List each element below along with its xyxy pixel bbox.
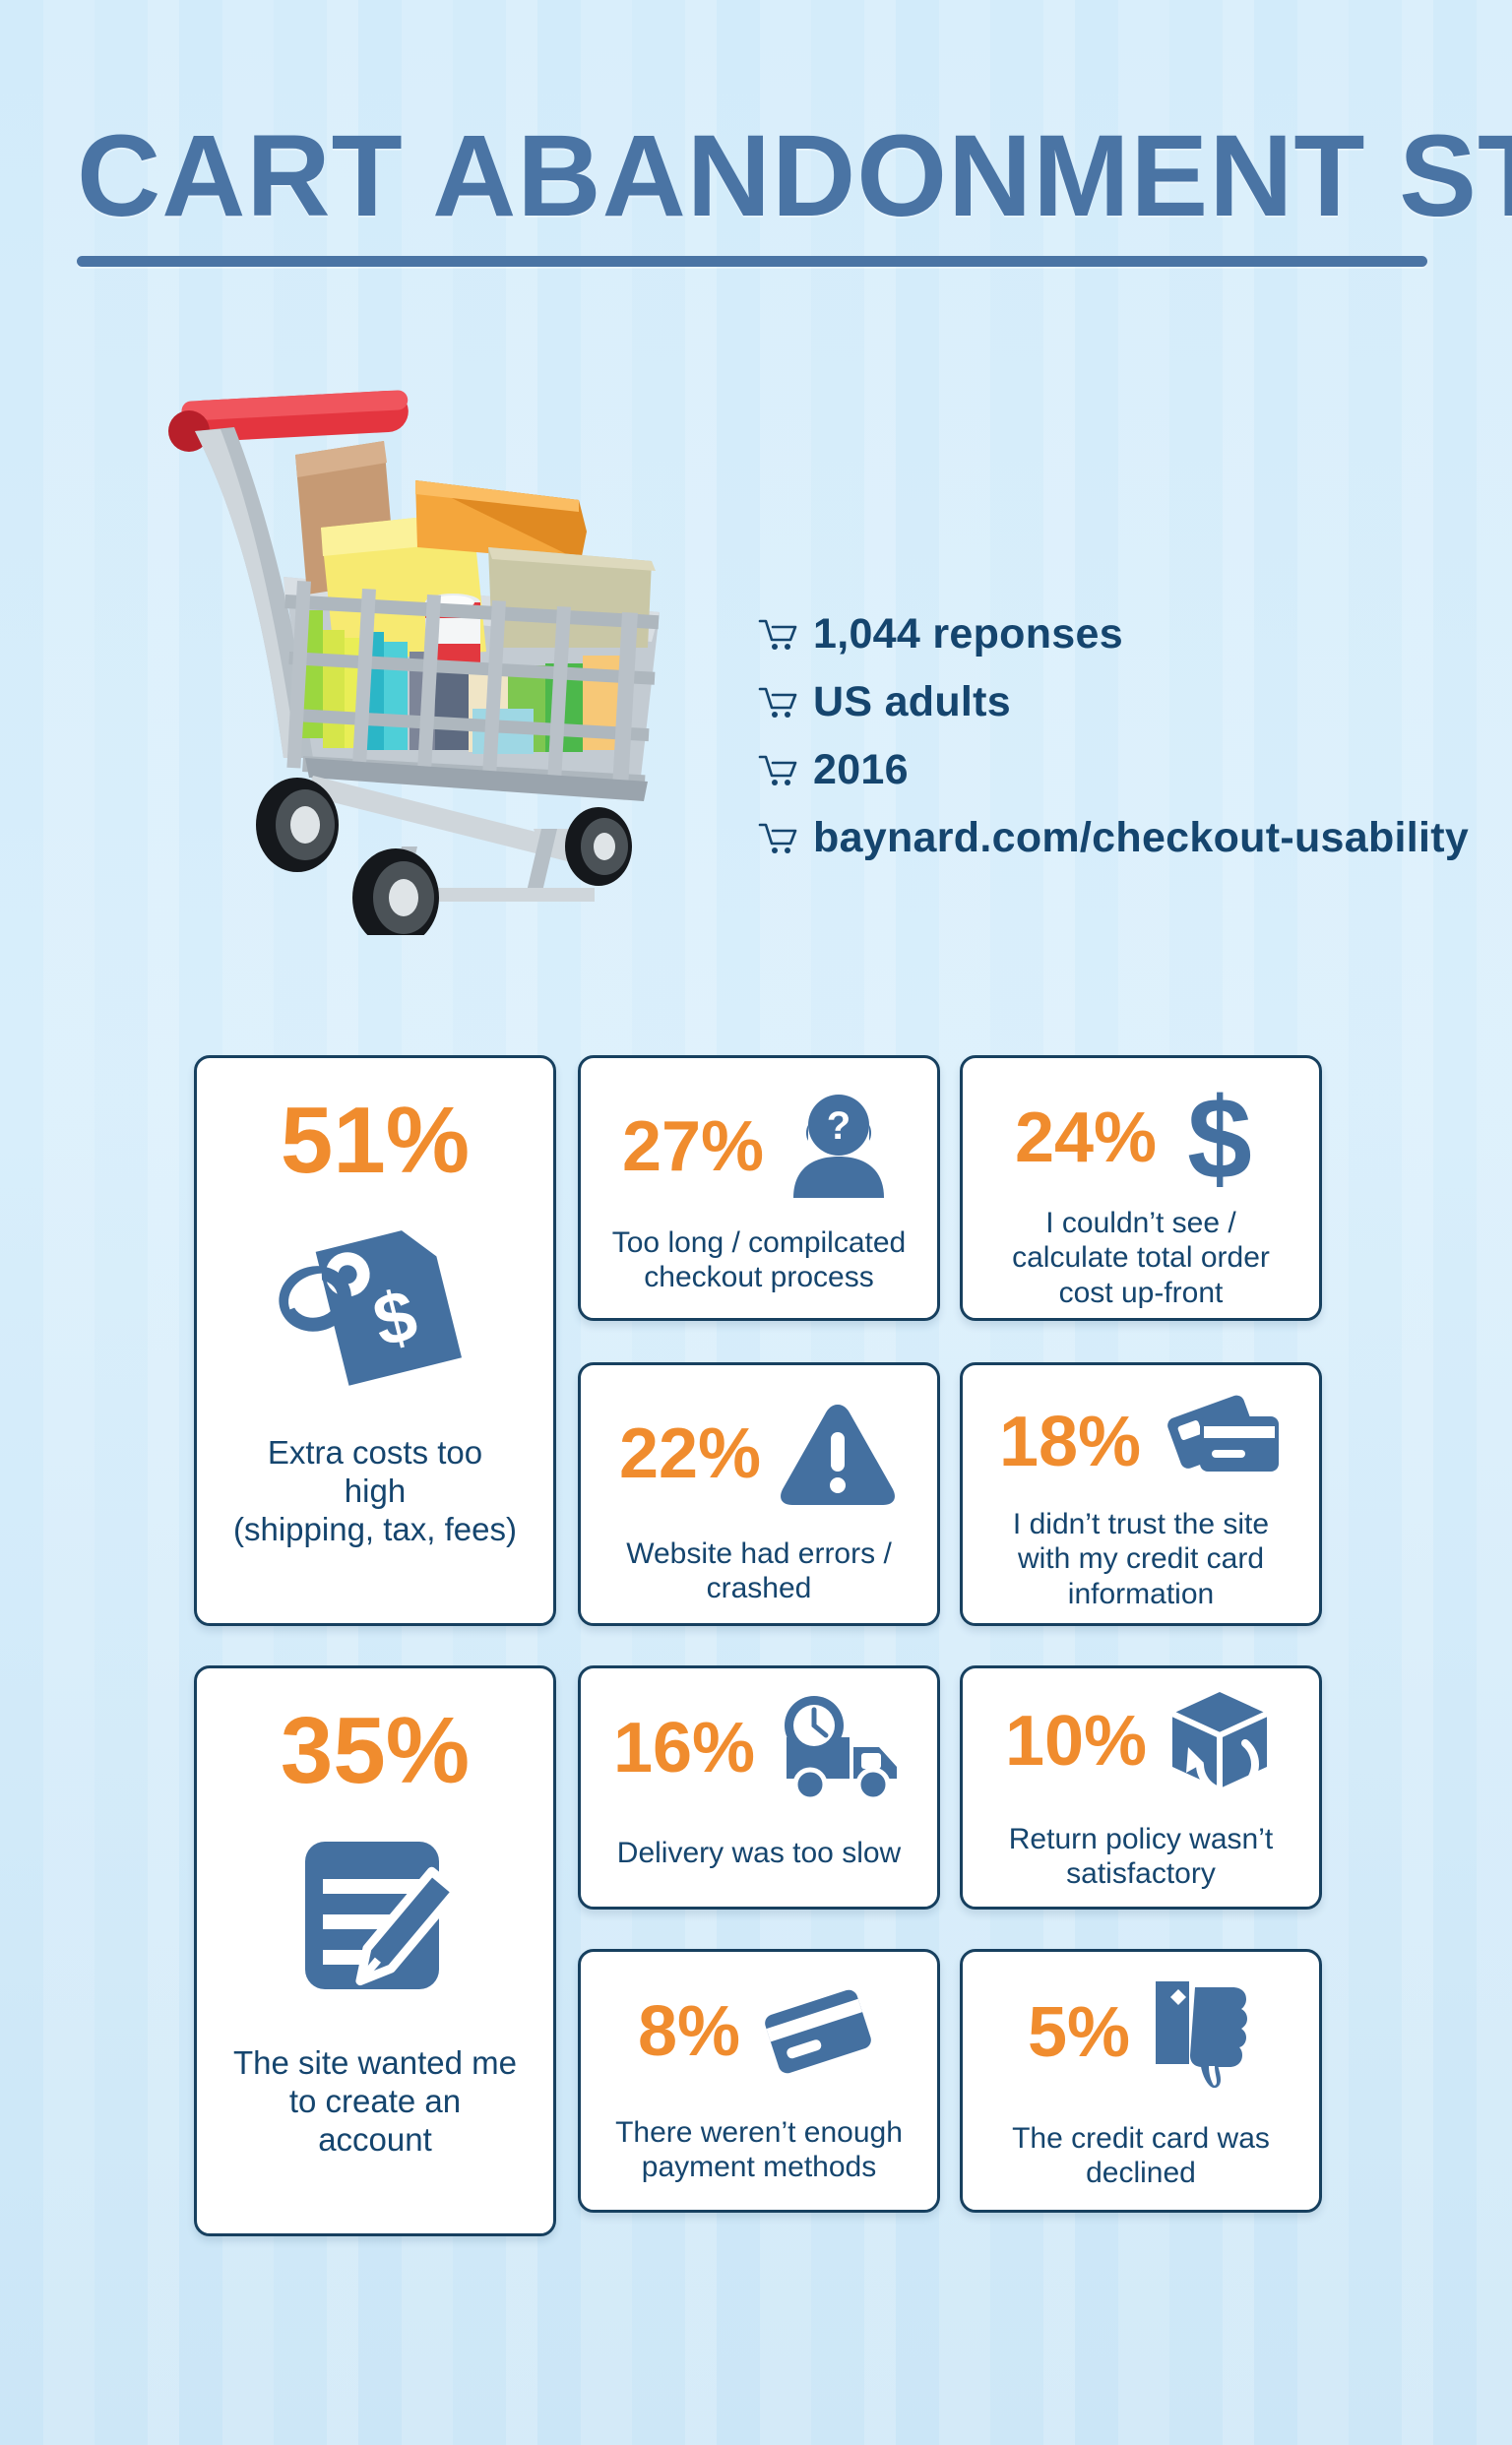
- stat-percent: 51%: [197, 1094, 553, 1188]
- fact-text: 2016: [813, 746, 909, 794]
- return-box-arrow-icon: [1163, 1686, 1277, 1796]
- stat-caption: Extra costs too high (shipping, tax, fee…: [197, 1434, 553, 1549]
- list-item: baynard.com/checkout-usability: [758, 814, 1469, 862]
- stat-percent: 5%: [1028, 1997, 1130, 2068]
- stat-percent: 24%: [1015, 1102, 1157, 1173]
- cart-bullet-icon: [758, 616, 797, 654]
- signup-form-pen-icon: [282, 1828, 469, 2005]
- source-url[interactable]: baynard.com/checkout-usability: [813, 814, 1469, 862]
- thumbs-down-card-icon: [1146, 1972, 1254, 2094]
- title-underline: [77, 256, 1427, 267]
- stat-card-51[interactable]: 51% $ Extra costs too high (shipping, ta: [194, 1055, 556, 1626]
- stat-caption: I didn’t trust the site with my credit c…: [963, 1507, 1319, 1611]
- cart-bullet-icon: [758, 820, 797, 857]
- stat-caption: I couldn’t see / calculate total order c…: [963, 1206, 1319, 1310]
- stat-percent: 8%: [638, 1996, 740, 2067]
- stat-caption: Delivery was too slow: [581, 1836, 937, 1870]
- list-item: 2016: [758, 746, 1469, 794]
- stat-caption: There weren’t enough payment methods: [581, 2115, 937, 2185]
- price-tag-dollar-icon: $: [272, 1214, 478, 1401]
- stat-caption: Website had errors / crashed: [581, 1536, 937, 1606]
- credit-cards-icon: [1157, 1391, 1283, 1493]
- credit-card-icon: [756, 1977, 880, 2086]
- page-title: CART ABANDONMENT STATS: [77, 118, 1435, 234]
- stat-card-16[interactable]: 16% Delivery was too slow: [578, 1665, 940, 1910]
- page-header: CART ABANDONMENT STATS: [77, 118, 1435, 267]
- stat-card-8[interactable]: 8% There weren’t enough payment methods: [578, 1949, 940, 2213]
- stat-percent: 10%: [1005, 1706, 1147, 1777]
- stat-percent: 18%: [999, 1407, 1141, 1477]
- delivery-truck-clock-icon: [771, 1694, 905, 1802]
- stat-percent: 35%: [197, 1704, 553, 1798]
- stat-caption: The site wanted me to create an account: [197, 2044, 553, 2160]
- cart-bullet-icon: [758, 752, 797, 789]
- stat-caption: The credit card was declined: [963, 2121, 1319, 2191]
- stat-card-27[interactable]: 27% ? Too long / compilcated checkout pr…: [578, 1055, 940, 1321]
- list-item: US adults: [758, 678, 1469, 726]
- svg-text:?: ?: [827, 1104, 850, 1148]
- cart-bullet-icon: [758, 684, 797, 721]
- stat-card-22[interactable]: 22% Website had errors / crashed: [578, 1362, 940, 1626]
- stat-card-18[interactable]: 18% I didn’t trust the site with my cred…: [960, 1362, 1322, 1626]
- stat-percent: 22%: [619, 1418, 761, 1489]
- list-item: 1,044 reponses: [758, 610, 1469, 658]
- stat-card-35[interactable]: 35% The site wanted me to create: [194, 1665, 556, 2236]
- stat-card-5[interactable]: 5% The credit card was declined: [960, 1949, 1322, 2213]
- warning-triangle-icon: [777, 1399, 899, 1509]
- stat-caption: Return policy wasn’t satisfactory: [963, 1822, 1319, 1892]
- dollar-sign-icon: $: [1172, 1080, 1267, 1196]
- stat-card-10[interactable]: 10% Return policy wasn’t satisfactory: [960, 1665, 1322, 1910]
- shopping-cart-illustration: [148, 384, 699, 935]
- stat-caption: Too long / compilcated checkout process: [581, 1225, 937, 1295]
- stat-percent: 27%: [622, 1111, 764, 1182]
- survey-facts-list: 1,044 reponses US adults: [758, 610, 1469, 882]
- person-question-icon: ?: [780, 1092, 896, 1202]
- fact-text: US adults: [813, 678, 1011, 726]
- svg-text:$: $: [1187, 1080, 1252, 1196]
- hero-section: 1,044 reponses US adults: [0, 364, 1512, 994]
- stat-percent: 16%: [613, 1713, 755, 1784]
- fact-text: 1,044 reponses: [813, 610, 1123, 658]
- stat-card-24[interactable]: 24% $ I couldn’t see / calculate total o…: [960, 1055, 1322, 1321]
